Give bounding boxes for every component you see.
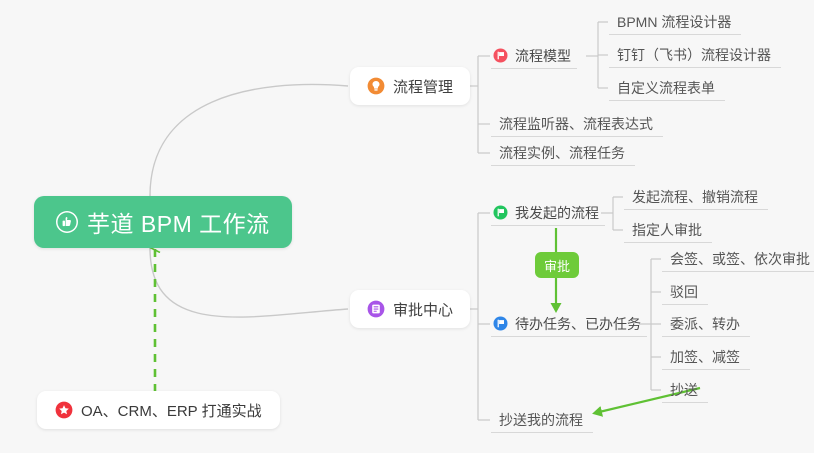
lightbulb-icon xyxy=(367,77,385,95)
leaf-label-add-remove-sign: 加签、减签 xyxy=(670,347,740,367)
mindmap-canvas: 芋道 BPM 工作流 流程管理 流程模型 BPMN 流程设计器 钉钉（飞书）流程… xyxy=(0,0,814,453)
topic-label-todo-done-tasks: 待办任务、已办任务 xyxy=(515,314,641,334)
leaf-node-dingtalk-designer[interactable]: 钉钉（飞书）流程设计器 xyxy=(609,42,781,68)
leaf-node-custom-form[interactable]: 自定义流程表单 xyxy=(609,75,725,101)
leaf-label-countersign: 会签、或签、依次审批 xyxy=(670,249,810,269)
callout-label-integration: OA、CRM、ERP 打通实战 xyxy=(81,400,262,421)
topic-node-process-instance[interactable]: 流程实例、流程任务 xyxy=(491,140,635,166)
topic-node-process-model[interactable]: 流程模型 xyxy=(491,43,577,69)
branch-label-process-management: 流程管理 xyxy=(393,76,453,97)
leaf-node-delegate[interactable]: 委派、转办 xyxy=(662,311,750,337)
topic-label-process-instance: 流程实例、流程任务 xyxy=(499,143,625,163)
leaf-node-reject[interactable]: 驳回 xyxy=(662,279,708,305)
root-node[interactable]: 芋道 BPM 工作流 xyxy=(34,196,292,248)
topic-label-process-model: 流程模型 xyxy=(515,46,571,66)
leaf-label-custom-form: 自定义流程表单 xyxy=(617,78,715,98)
leaf-node-countersign[interactable]: 会签、或签、依次审批 xyxy=(662,246,814,272)
callout-node-integration[interactable]: OA、CRM、ERP 打通实战 xyxy=(37,391,280,429)
topic-node-todo-done-tasks[interactable]: 待办任务、已办任务 xyxy=(491,311,647,337)
topic-node-cc-my-process[interactable]: 抄送我的流程 xyxy=(491,407,593,433)
topic-label-my-started-process: 我发起的流程 xyxy=(515,203,599,223)
star-icon xyxy=(55,401,73,419)
leaf-label-delegate: 委派、转办 xyxy=(670,314,740,334)
annotation-badge-approval-label: 审批 xyxy=(544,256,570,275)
leaf-label-bpmn-designer: BPMN 流程设计器 xyxy=(617,12,731,32)
connector-root-to-process-management xyxy=(150,84,348,196)
topic-node-my-started-process[interactable]: 我发起的流程 xyxy=(491,200,605,226)
approval-icon xyxy=(367,300,385,318)
branch-label-approval-center: 审批中心 xyxy=(393,299,453,320)
topic-label-cc-my-process: 抄送我的流程 xyxy=(499,410,583,430)
branch-node-process-management[interactable]: 流程管理 xyxy=(350,67,470,105)
root-label: 芋道 BPM 工作流 xyxy=(87,205,270,239)
leaf-label-assignee-approval: 指定人审批 xyxy=(632,220,702,240)
leaf-label-start-revoke: 发起流程、撤销流程 xyxy=(632,187,758,207)
thumbs-up-icon xyxy=(56,211,78,233)
leaf-node-cc[interactable]: 抄送 xyxy=(662,377,708,403)
topic-label-process-listener: 流程监听器、流程表达式 xyxy=(499,114,653,134)
leaf-label-dingtalk-designer: 钉钉（飞书）流程设计器 xyxy=(617,45,771,65)
leaf-node-add-remove-sign[interactable]: 加签、减签 xyxy=(662,344,750,370)
flag-icon xyxy=(493,205,508,220)
flag-icon xyxy=(493,316,508,331)
annotation-badge-approval: 审批 xyxy=(535,252,579,278)
leaf-label-cc: 抄送 xyxy=(670,380,698,400)
leaf-label-reject: 驳回 xyxy=(670,282,698,302)
leaf-node-assignee-approval[interactable]: 指定人审批 xyxy=(624,217,712,243)
branch-node-approval-center[interactable]: 审批中心 xyxy=(350,290,470,328)
flag-icon xyxy=(493,48,508,63)
topic-node-process-listener[interactable]: 流程监听器、流程表达式 xyxy=(491,111,663,137)
connector-root-to-approval-center xyxy=(150,248,348,317)
leaf-node-bpmn-designer[interactable]: BPMN 流程设计器 xyxy=(609,9,741,35)
leaf-node-start-revoke[interactable]: 发起流程、撤销流程 xyxy=(624,184,768,210)
